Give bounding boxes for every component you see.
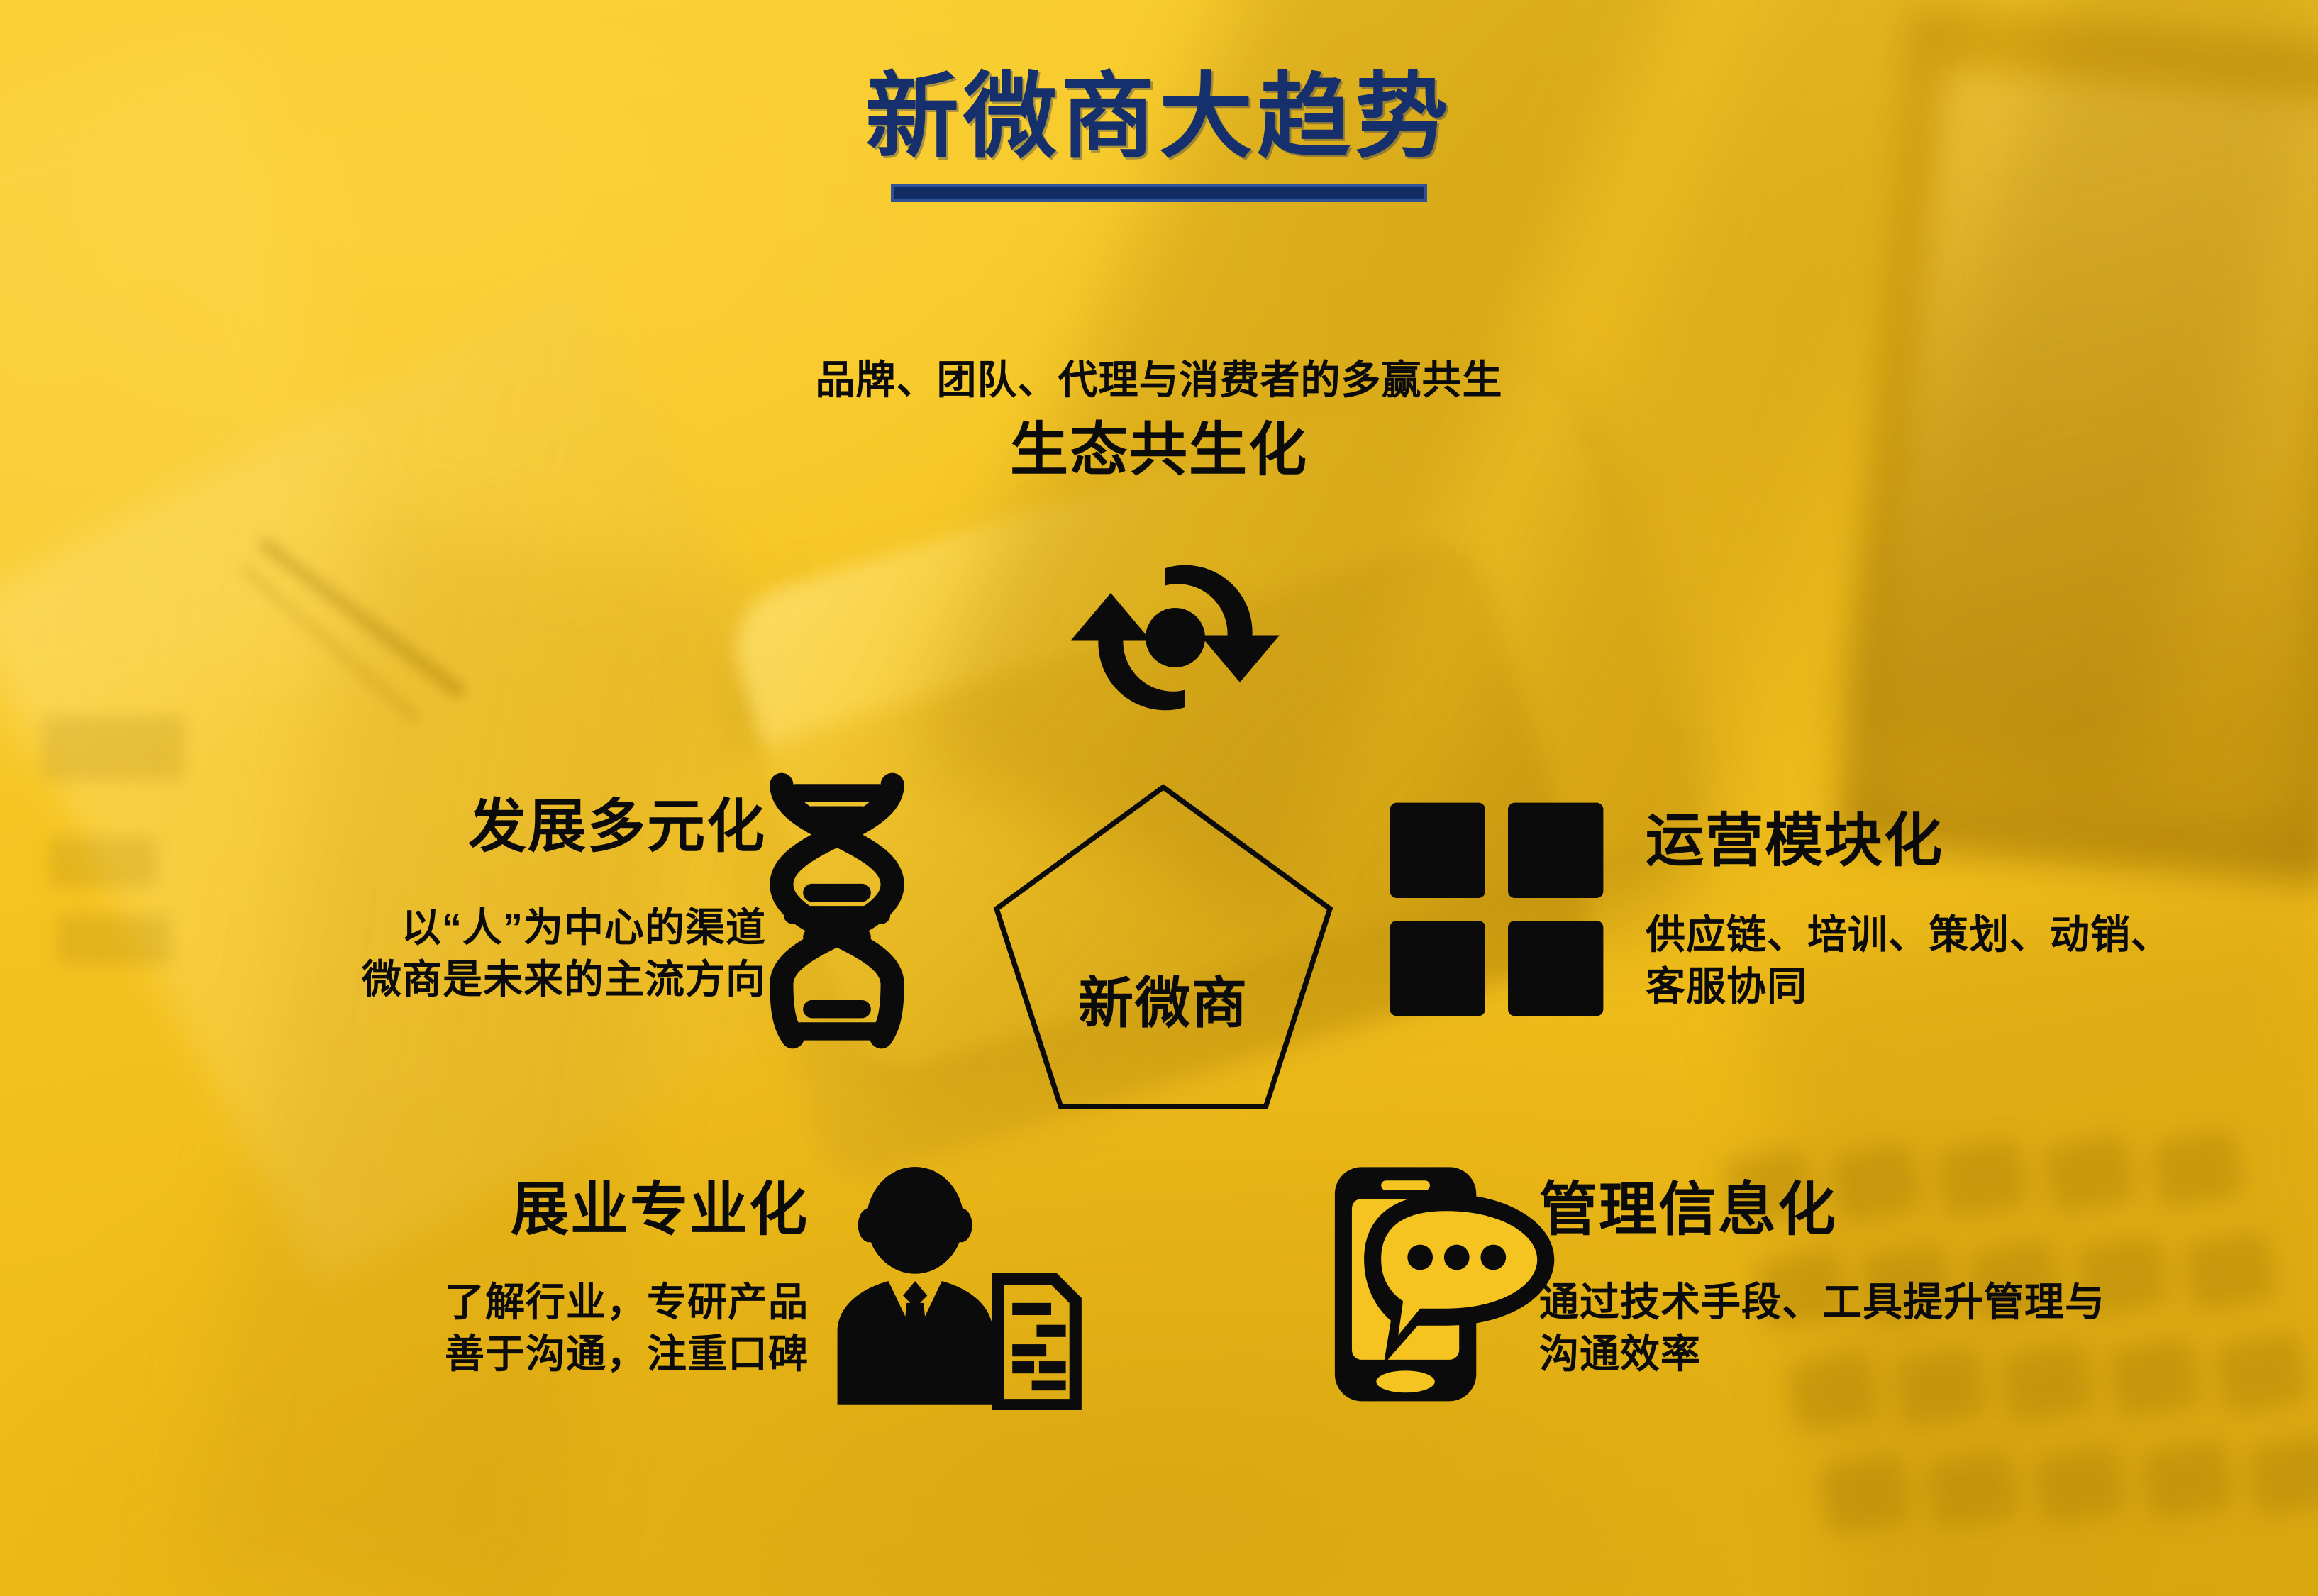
section-operation-description: 供应链、培训、策划、动销、 客服协同 bbox=[1646, 909, 2270, 1013]
cycle-icon bbox=[1051, 533, 1299, 739]
center-pentagon-label: 新微商 bbox=[989, 959, 1337, 1038]
section-operation-heading: 运营模块化 bbox=[1646, 809, 2270, 874]
section-ecology-heading: 生态共生化 bbox=[0, 418, 2318, 483]
section-management: 管理信息化 通过技术手段、工具提升管理与 沟通效率 bbox=[1539, 1177, 2220, 1380]
title-block: 新微商大趋势 bbox=[0, 68, 2318, 202]
infographic-slide: 新微商大趋势 品牌、团队、代理与消费者的多赢共生 生态共生化 新微商 发展多元化… bbox=[0, 0, 2318, 1596]
phone-chat-icon bbox=[1330, 1160, 1564, 1408]
section-ecology-description: 品牌、团队、代理与消费者的多赢共生 bbox=[0, 355, 2318, 406]
section-diversify-description: 以“人”为中心的渠道 微商是未来的主流方向 bbox=[255, 902, 766, 1006]
section-operation: 运营模块化 供应链、培训、策划、动销、 客服协同 bbox=[1646, 809, 2270, 1012]
section-professional: 展业专业化 了解行业，专研产品 善于沟通，注重口碑 bbox=[340, 1177, 809, 1380]
background-label-blur bbox=[50, 837, 156, 887]
section-management-heading: 管理信息化 bbox=[1539, 1177, 2220, 1243]
section-diversify-heading: 发展多元化 bbox=[255, 794, 766, 860]
center-pentagon: 新微商 bbox=[989, 780, 1337, 1114]
page-title: 新微商大趋势 bbox=[865, 68, 1453, 167]
section-management-description: 通过技术手段、工具提升管理与 沟通效率 bbox=[1539, 1277, 2220, 1380]
section-diversify: 发展多元化 以“人”为中心的渠道 微商是未来的主流方向 bbox=[255, 794, 766, 1005]
section-ecology: 品牌、团队、代理与消费者的多赢共生 生态共生化 bbox=[0, 355, 2318, 483]
title-underline bbox=[891, 184, 1427, 202]
background-label-blur bbox=[43, 716, 184, 780]
four-squares-icon bbox=[1383, 796, 1610, 1023]
section-professional-heading: 展业专业化 bbox=[340, 1177, 809, 1243]
businessman-document-icon bbox=[823, 1167, 1085, 1412]
section-professional-description: 了解行业，专研产品 善于沟通，注重口碑 bbox=[340, 1277, 809, 1380]
background-label-blur bbox=[57, 915, 170, 965]
dna-icon bbox=[748, 763, 926, 1053]
